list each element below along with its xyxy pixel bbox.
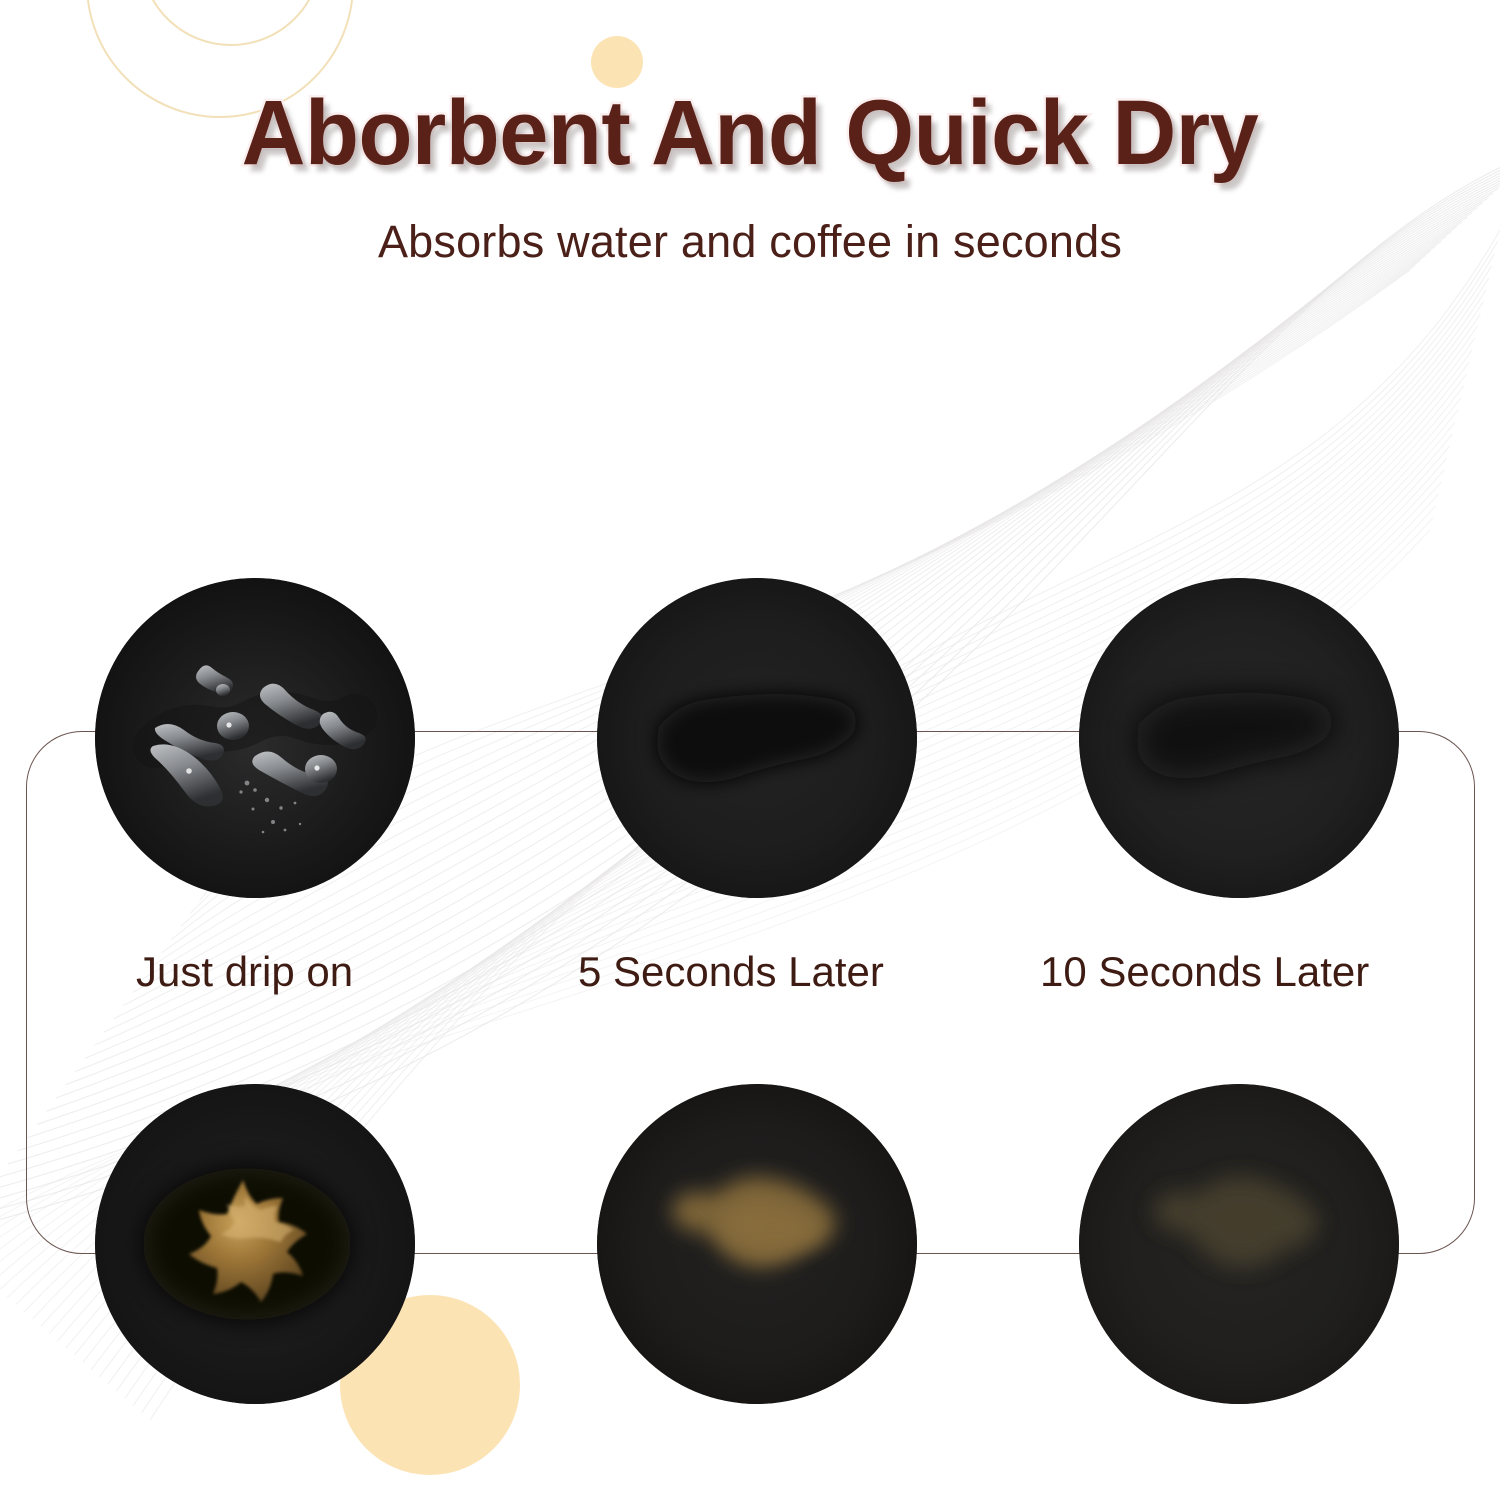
sample-coffee-10-seconds <box>1079 1084 1399 1404</box>
sample-coffee-5-seconds <box>597 1084 917 1404</box>
fabric-disc <box>95 578 415 898</box>
coffee-faded-stain-icon <box>1079 1084 1399 1404</box>
caption-10-seconds-later: 10 Seconds Later <box>1040 948 1369 996</box>
water-beads-icon <box>95 578 415 898</box>
fabric-disc <box>95 1084 415 1404</box>
sample-water-5-seconds <box>597 578 917 898</box>
fabric-disc <box>597 1084 917 1404</box>
coffee-stain-icon <box>597 1084 917 1404</box>
water-damp-patch-icon <box>597 578 917 898</box>
sample-water-10-seconds <box>1079 578 1399 898</box>
fabric-disc <box>1079 578 1399 898</box>
coffee-splash-icon <box>95 1084 415 1404</box>
fabric-disc <box>1079 1084 1399 1404</box>
caption-5-seconds-later: 5 Seconds Later <box>578 948 884 996</box>
demo-grid: Just drip on 5 Seconds Later 10 Seconds … <box>0 0 1500 1496</box>
caption-just-drip-on: Just drip on <box>136 948 353 996</box>
infographic-canvas: Aborbent And Quick Dry Absorbs water and… <box>0 0 1500 1496</box>
fabric-disc <box>597 578 917 898</box>
sample-coffee-just-dripped <box>95 1084 415 1404</box>
sample-water-just-dripped <box>95 578 415 898</box>
water-dry-patch-icon <box>1079 578 1399 898</box>
